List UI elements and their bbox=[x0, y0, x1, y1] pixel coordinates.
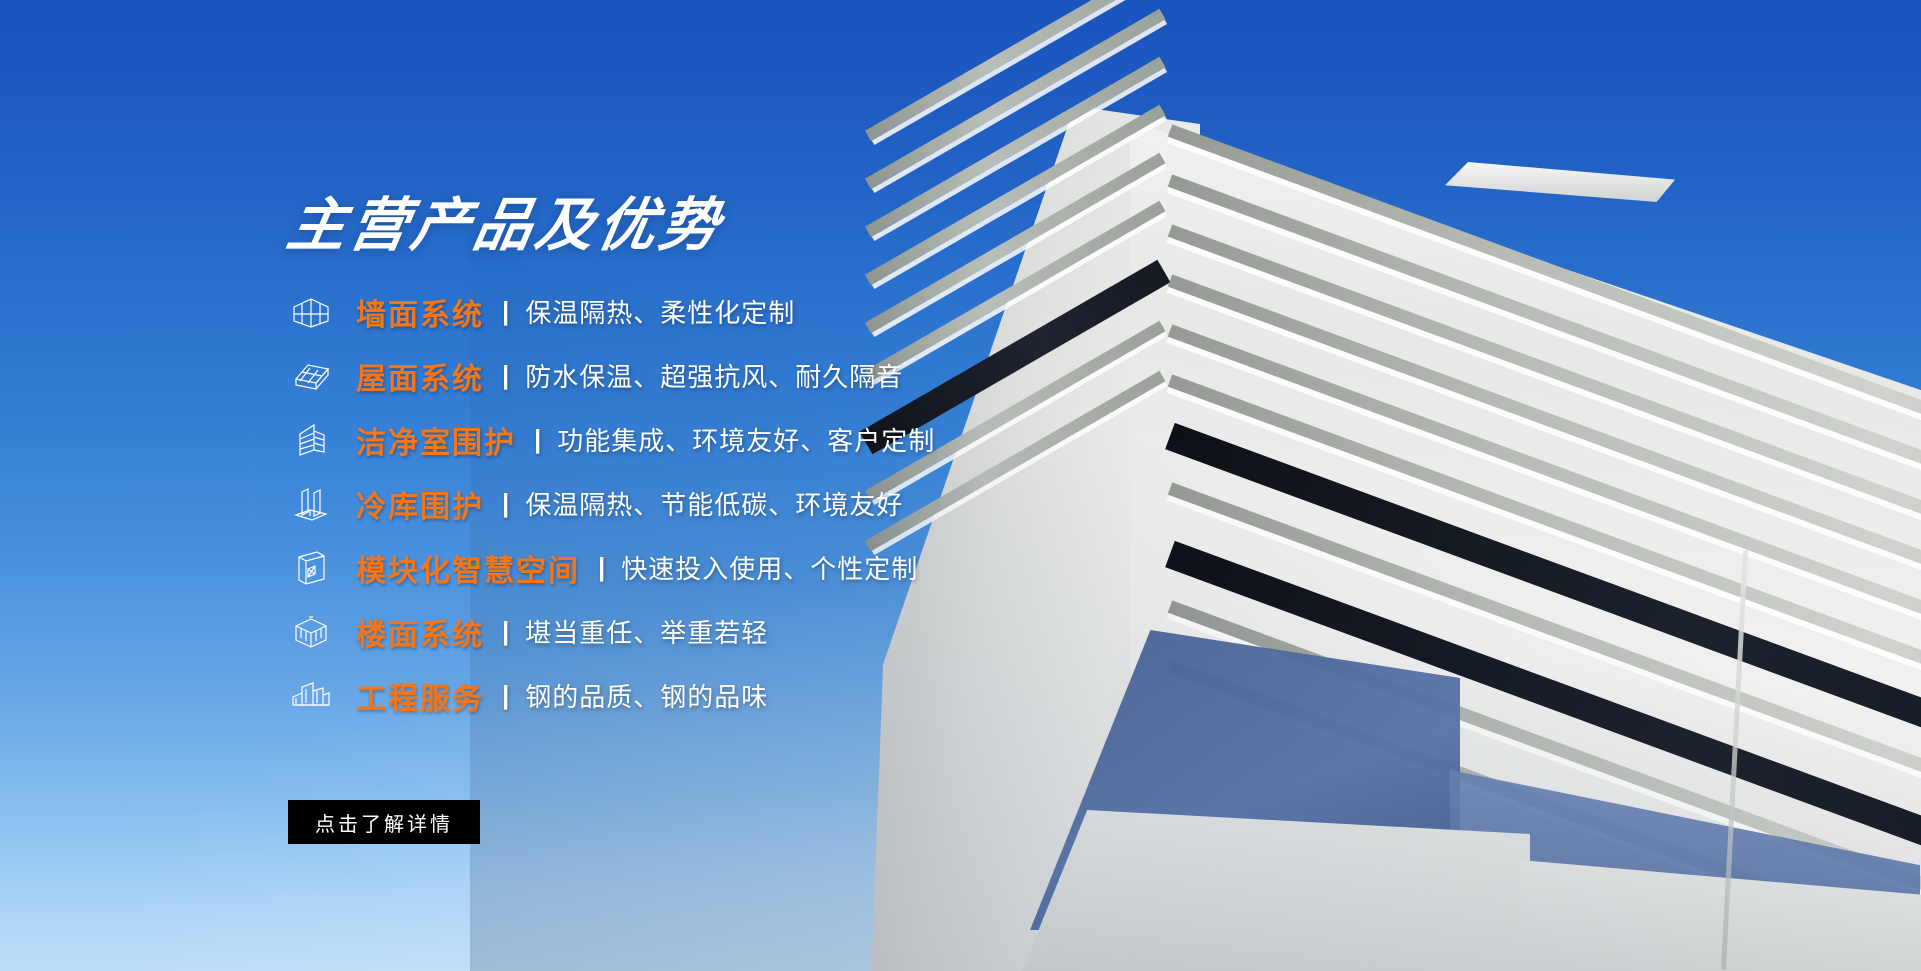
category-label: 工程服务 bbox=[356, 674, 484, 718]
separator: | bbox=[502, 488, 509, 519]
list-item[interactable]: 工程服务 | 钢的品质、钢的品味 bbox=[288, 675, 1188, 717]
list-item[interactable]: 洁净室围护 | 功能集成、环境友好、客户定制 bbox=[288, 419, 1188, 461]
roof-system-icon bbox=[288, 355, 334, 397]
description-label: 堪当重任、举重若轻 bbox=[525, 613, 768, 650]
list-item[interactable]: 冷库围护 | 保温隔热、节能低碳、环境友好 bbox=[288, 483, 1188, 525]
list-item[interactable]: 模块化智慧空间 | 快速投入使用、个性定制 bbox=[288, 547, 1188, 589]
floor-system-icon bbox=[288, 611, 334, 653]
description-label: 保温隔热、柔性化定制 bbox=[525, 293, 795, 330]
product-list: 墙面系统 | 保温隔热、柔性化定制 屋面系统 | 防水保温、超强抗风、耐久隔音 bbox=[288, 291, 1188, 717]
separator: | bbox=[502, 616, 509, 647]
category-label: 墙面系统 bbox=[356, 290, 484, 334]
category-label: 模块化智慧空间 bbox=[356, 546, 580, 590]
description-label: 快速投入使用、个性定制 bbox=[621, 549, 918, 586]
page-title: 主营产品及优势 bbox=[283, 196, 1194, 257]
category-label: 洁净室围护 bbox=[356, 418, 516, 462]
category-label: 冷库围护 bbox=[356, 482, 484, 526]
description-label: 保温隔热、节能低碳、环境友好 bbox=[525, 485, 903, 522]
category-label: 楼面系统 bbox=[356, 610, 484, 654]
category-label: 屋面系统 bbox=[356, 354, 484, 398]
list-item[interactable]: 楼面系统 | 堪当重任、举重若轻 bbox=[288, 611, 1188, 653]
modular-smart-space-icon bbox=[288, 547, 334, 589]
engineering-service-icon bbox=[288, 675, 334, 717]
description-label: 防水保温、超强抗风、耐久隔音 bbox=[525, 357, 903, 394]
wall-system-icon bbox=[288, 291, 334, 333]
list-item[interactable]: 屋面系统 | 防水保温、超强抗风、耐久隔音 bbox=[288, 355, 1188, 397]
list-item[interactable]: 墙面系统 | 保温隔热、柔性化定制 bbox=[288, 291, 1188, 333]
hero-content: 主营产品及优势 墙面系统 | 保温隔热、柔性化定制 bbox=[288, 196, 1188, 717]
separator: | bbox=[502, 296, 509, 327]
separator: | bbox=[502, 360, 509, 391]
separator: | bbox=[502, 680, 509, 711]
description-label: 钢的品质、钢的品味 bbox=[525, 677, 768, 714]
learn-more-button[interactable]: 点击了解详情 bbox=[288, 800, 480, 844]
separator: | bbox=[534, 424, 541, 455]
cold-storage-enclosure-icon bbox=[288, 483, 334, 525]
separator: | bbox=[598, 552, 605, 583]
cleanroom-enclosure-icon bbox=[288, 419, 334, 461]
hero-banner: 主营产品及优势 墙面系统 | 保温隔热、柔性化定制 bbox=[0, 0, 1921, 971]
description-label: 功能集成、环境友好、客户定制 bbox=[557, 421, 935, 458]
